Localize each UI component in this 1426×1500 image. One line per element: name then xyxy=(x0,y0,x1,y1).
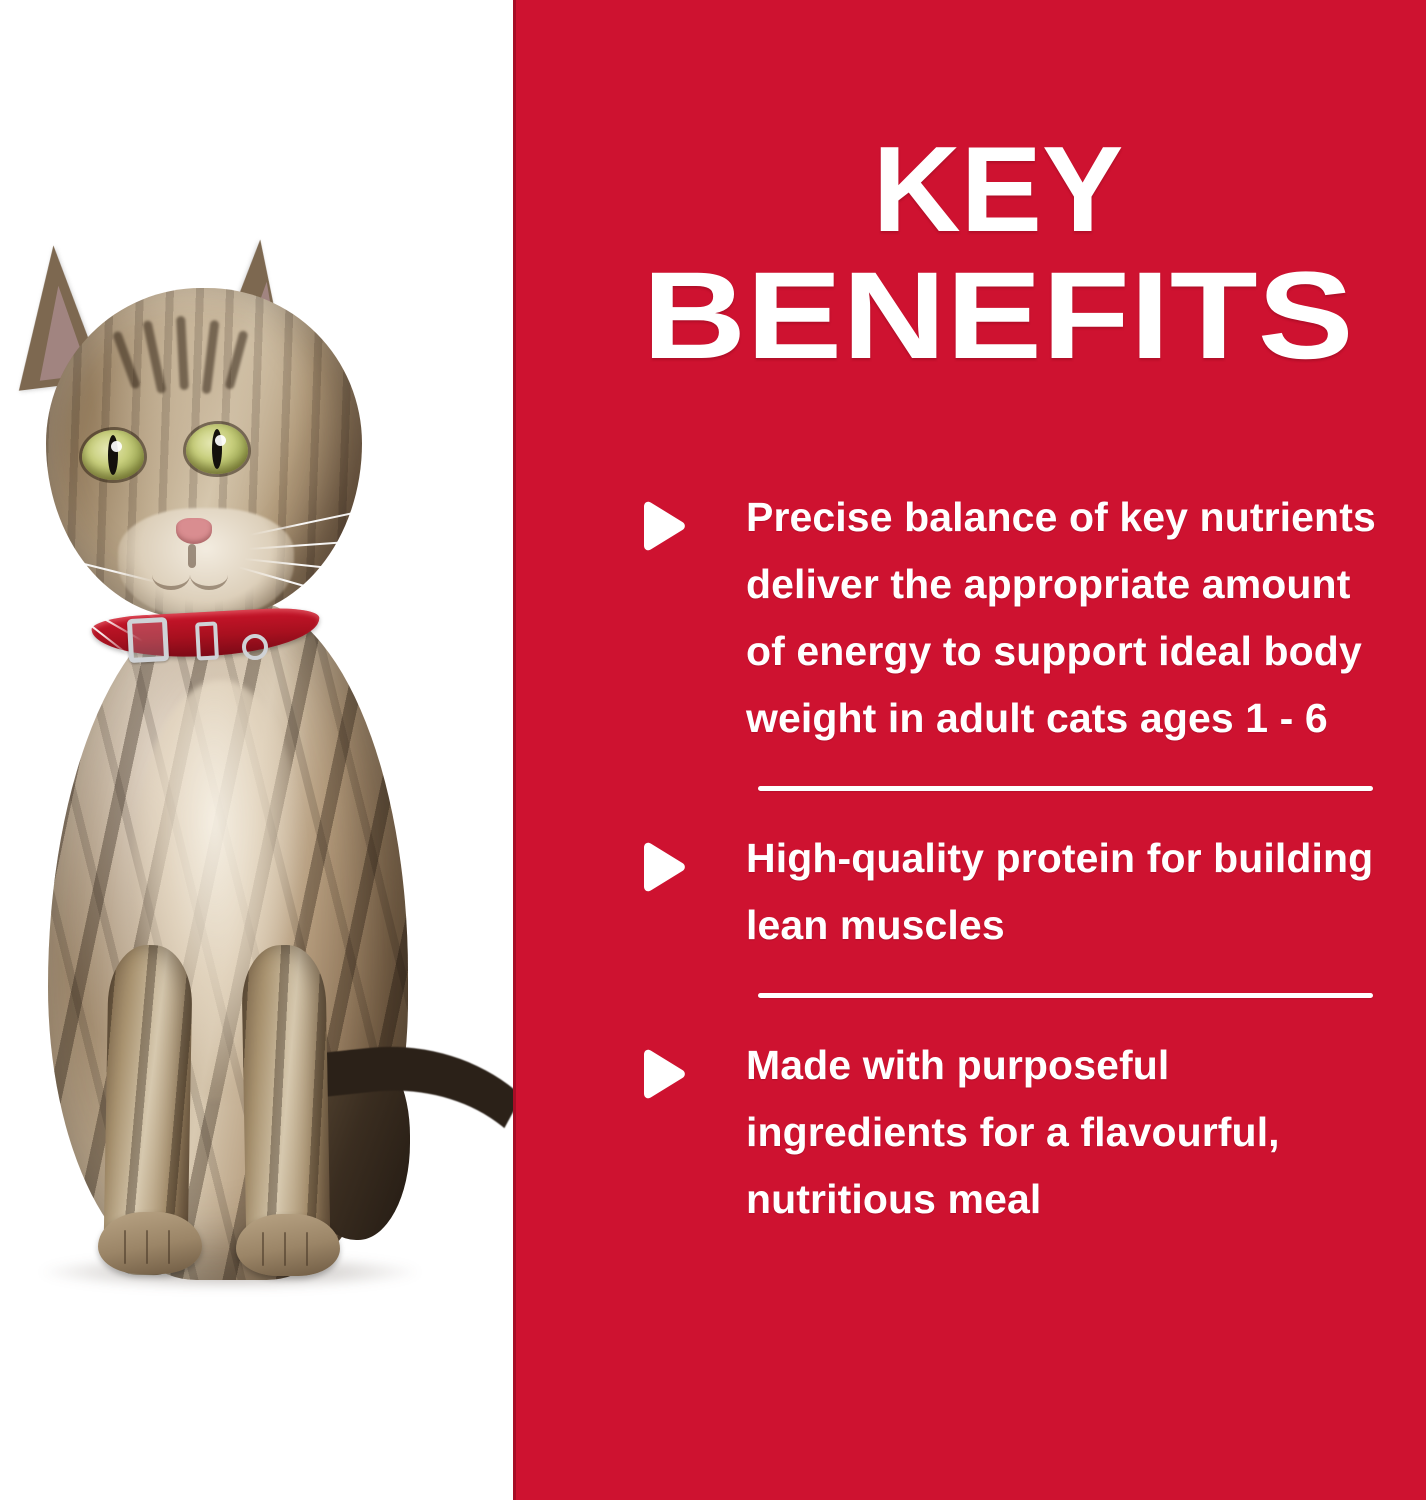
collar-buckle-icon xyxy=(127,617,169,663)
page-title-line-2: BENEFITS xyxy=(505,254,1426,378)
cat-tail xyxy=(322,1028,513,1226)
benefit-text: Precise balance of key nutrients deliver… xyxy=(746,484,1378,752)
benefit-text: Made with purposeful ingredients for a f… xyxy=(746,1032,1378,1233)
cat-eye-glint xyxy=(215,435,226,446)
benefit-item-1: Precise balance of key nutrients deliver… xyxy=(638,484,1378,752)
play-triangle-icon xyxy=(638,500,688,552)
cat-paw-right xyxy=(236,1214,340,1276)
benefits-list: Precise balance of key nutrients deliver… xyxy=(638,484,1378,1233)
collar-keeper-loop xyxy=(195,621,219,660)
benefit-divider-2 xyxy=(758,993,1373,998)
benefit-item-3: Made with purposeful ingredients for a f… xyxy=(638,1032,1378,1233)
benefit-item-2: High-quality protein for building lean m… xyxy=(638,825,1378,959)
cat-paw-left xyxy=(98,1212,202,1274)
benefit-divider-1 xyxy=(758,786,1373,791)
cat-nose xyxy=(176,518,212,544)
benefits-red-panel: KEY BENEFITS Precise balance of key nutr… xyxy=(513,0,1426,1500)
cat-eye-right xyxy=(186,424,248,474)
benefit-text: High-quality protein for building lean m… xyxy=(746,825,1378,959)
cat-illustration xyxy=(0,0,513,1500)
cat-mouth-left xyxy=(152,560,190,590)
page-title: KEY BENEFITS xyxy=(573,128,1423,378)
play-triangle-icon xyxy=(638,841,688,893)
cat-eye-glint xyxy=(111,441,122,452)
cat-photo-panel xyxy=(0,0,513,1500)
page-title-line-1: KEY xyxy=(573,128,1423,250)
collar-ring-icon xyxy=(242,634,268,660)
play-triangle-icon xyxy=(638,1048,688,1100)
cat-mouth-right xyxy=(190,560,228,590)
cat-eye-left xyxy=(82,430,144,480)
key-benefits-panel-image: KEY BENEFITS Precise balance of key nutr… xyxy=(0,0,1426,1500)
